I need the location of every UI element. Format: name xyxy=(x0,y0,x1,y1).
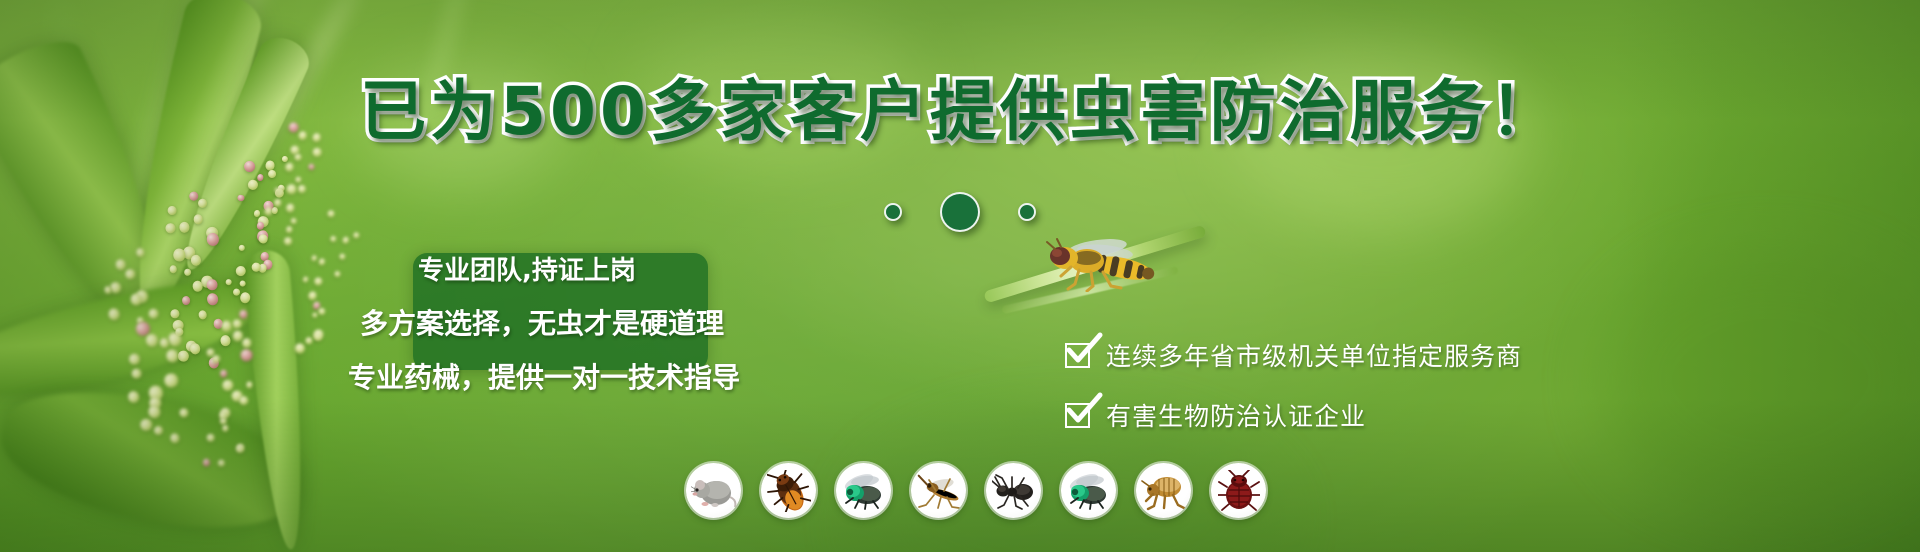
selling-point-line-1: 专业团队,持证上岗 xyxy=(418,258,918,284)
pest-type-icon-row xyxy=(686,463,1266,518)
selling-point-line-2: 多方案选择，无虫才是硬道理 xyxy=(360,310,918,338)
checklist-item-label: 连续多年省市级机关单位指定服务商 xyxy=(1106,337,1522,373)
banner-headline: 已为500多家客户提供虫害防治服务！ xyxy=(0,74,1920,150)
cockroach-icon[interactable] xyxy=(761,463,816,518)
bedbug-icon[interactable] xyxy=(1211,463,1266,518)
fly-green-icon[interactable] xyxy=(1061,463,1116,518)
flea-icon[interactable] xyxy=(1136,463,1191,518)
checkbox-checked-icon xyxy=(1065,401,1093,429)
dot-small-left xyxy=(884,203,902,221)
checklist-item-label: 有害生物防治认证企业 xyxy=(1106,397,1366,433)
selling-points-text: 专业团队,持证上岗 多方案选择，无虫才是硬道理 专业药械，提供一对一技术指导 xyxy=(418,258,918,392)
mouse-icon[interactable] xyxy=(686,463,741,518)
fly-icon[interactable] xyxy=(836,463,891,518)
checklist-item: 连续多年省市级机关单位指定服务商 xyxy=(1065,332,1522,378)
dot-small-right xyxy=(1018,203,1036,221)
checkbox-checked-icon xyxy=(1065,341,1093,369)
dot-large-center xyxy=(940,192,980,232)
selling-point-line-3: 专业药械，提供一对一技术指导 xyxy=(348,364,918,392)
promo-banner: 已为500多家客户提供虫害防治服务！ 专业团队,持证上岗 多方案选择，无虫才是硬… xyxy=(0,0,1920,552)
decorative-dot-row xyxy=(0,192,1920,232)
mosquito-icon[interactable] xyxy=(911,463,966,518)
checklist-item: 有害生物防治认证企业 xyxy=(1065,392,1522,438)
banner-headline-text: 已为500多家客户提供虫害防治服务！ xyxy=(360,73,1560,150)
credentials-checklist: 连续多年省市级机关单位指定服务商 有害生物防治认证企业 xyxy=(1065,332,1522,438)
ant-icon[interactable] xyxy=(986,463,1041,518)
